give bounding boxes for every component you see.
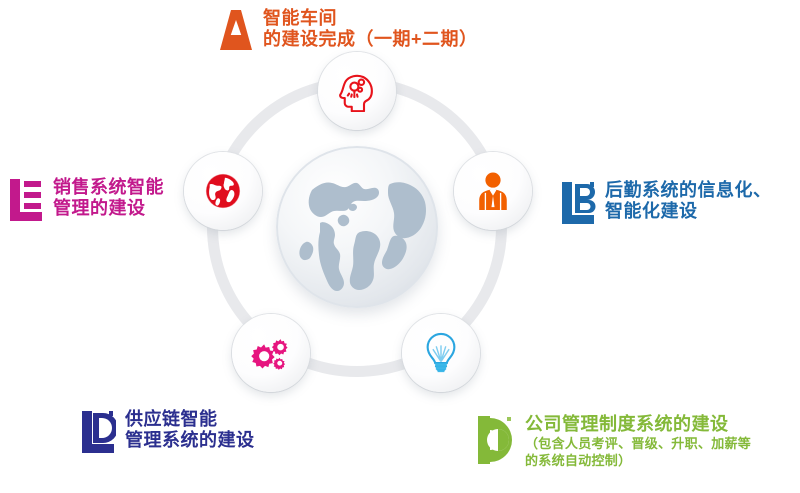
node-gears[interactable] [232, 314, 310, 392]
node-businessman[interactable] [454, 152, 532, 230]
globe-icon [204, 172, 242, 210]
gears-icon [250, 333, 292, 373]
node-head-gears[interactable] [318, 52, 396, 130]
callout-b[interactable]: 后勤系统的信息化、 智能化建设 [560, 180, 772, 231]
callout-c-sub2: 的系统自动控制） [525, 453, 751, 468]
head-gears-icon [336, 70, 378, 112]
callout-c-line1: 公司管理制度系统的建设 [525, 414, 751, 435]
center-globe [276, 146, 438, 308]
callout-d-line2: 管理系统的建设 [125, 430, 255, 451]
badge-letter-d [80, 409, 116, 460]
callout-a[interactable]: 智能车间 的建设完成（一期+二期） [218, 8, 478, 57]
callout-b-text: 后勤系统的信息化、 智能化建设 [605, 180, 772, 222]
callout-c[interactable]: 公司管理制度系统的建设 （包含人员考评、晋级、升职、加薪等 的系统自动控制） [478, 414, 751, 471]
hub-and-spoke-diagram [196, 66, 518, 388]
badge-letter-c [478, 414, 516, 471]
callout-e-text: 销售系统智能 管理的建设 [53, 177, 164, 219]
node-lightbulb[interactable] [402, 314, 480, 392]
callout-c-text: 公司管理制度系统的建设 （包含人员考评、晋级、升职、加薪等 的系统自动控制） [525, 414, 751, 468]
callout-b-line1: 后勤系统的信息化、 [605, 180, 772, 201]
callout-d-line1: 供应链智能 [125, 409, 255, 430]
badge-letter-b [560, 180, 596, 231]
lightbulb-icon [423, 332, 459, 374]
callout-d[interactable]: 供应链智能 管理系统的建设 [80, 409, 255, 460]
callout-e-line2: 管理的建设 [53, 198, 164, 219]
badge-letter-e [8, 177, 44, 228]
callout-b-line2: 智能化建设 [605, 201, 772, 222]
callout-a-line2: 的建设完成（一期+二期） [263, 29, 478, 50]
businessman-icon [474, 171, 512, 211]
callout-e[interactable]: 销售系统智能 管理的建设 [8, 177, 164, 228]
callout-c-sub1: （包含人员考评、晋级、升职、加薪等 [525, 436, 751, 451]
diagram-canvas: 智能车间 的建设完成（一期+二期） 后勤系统的信息化、 智能化建设 [0, 0, 800, 493]
callout-a-text: 智能车间 的建设完成（一期+二期） [263, 8, 478, 50]
callout-d-text: 供应链智能 管理系统的建设 [125, 409, 255, 451]
node-globe[interactable] [184, 152, 262, 230]
badge-letter-a [218, 8, 254, 57]
callout-e-line1: 销售系统智能 [53, 177, 164, 198]
callout-a-line1: 智能车间 [263, 8, 478, 29]
